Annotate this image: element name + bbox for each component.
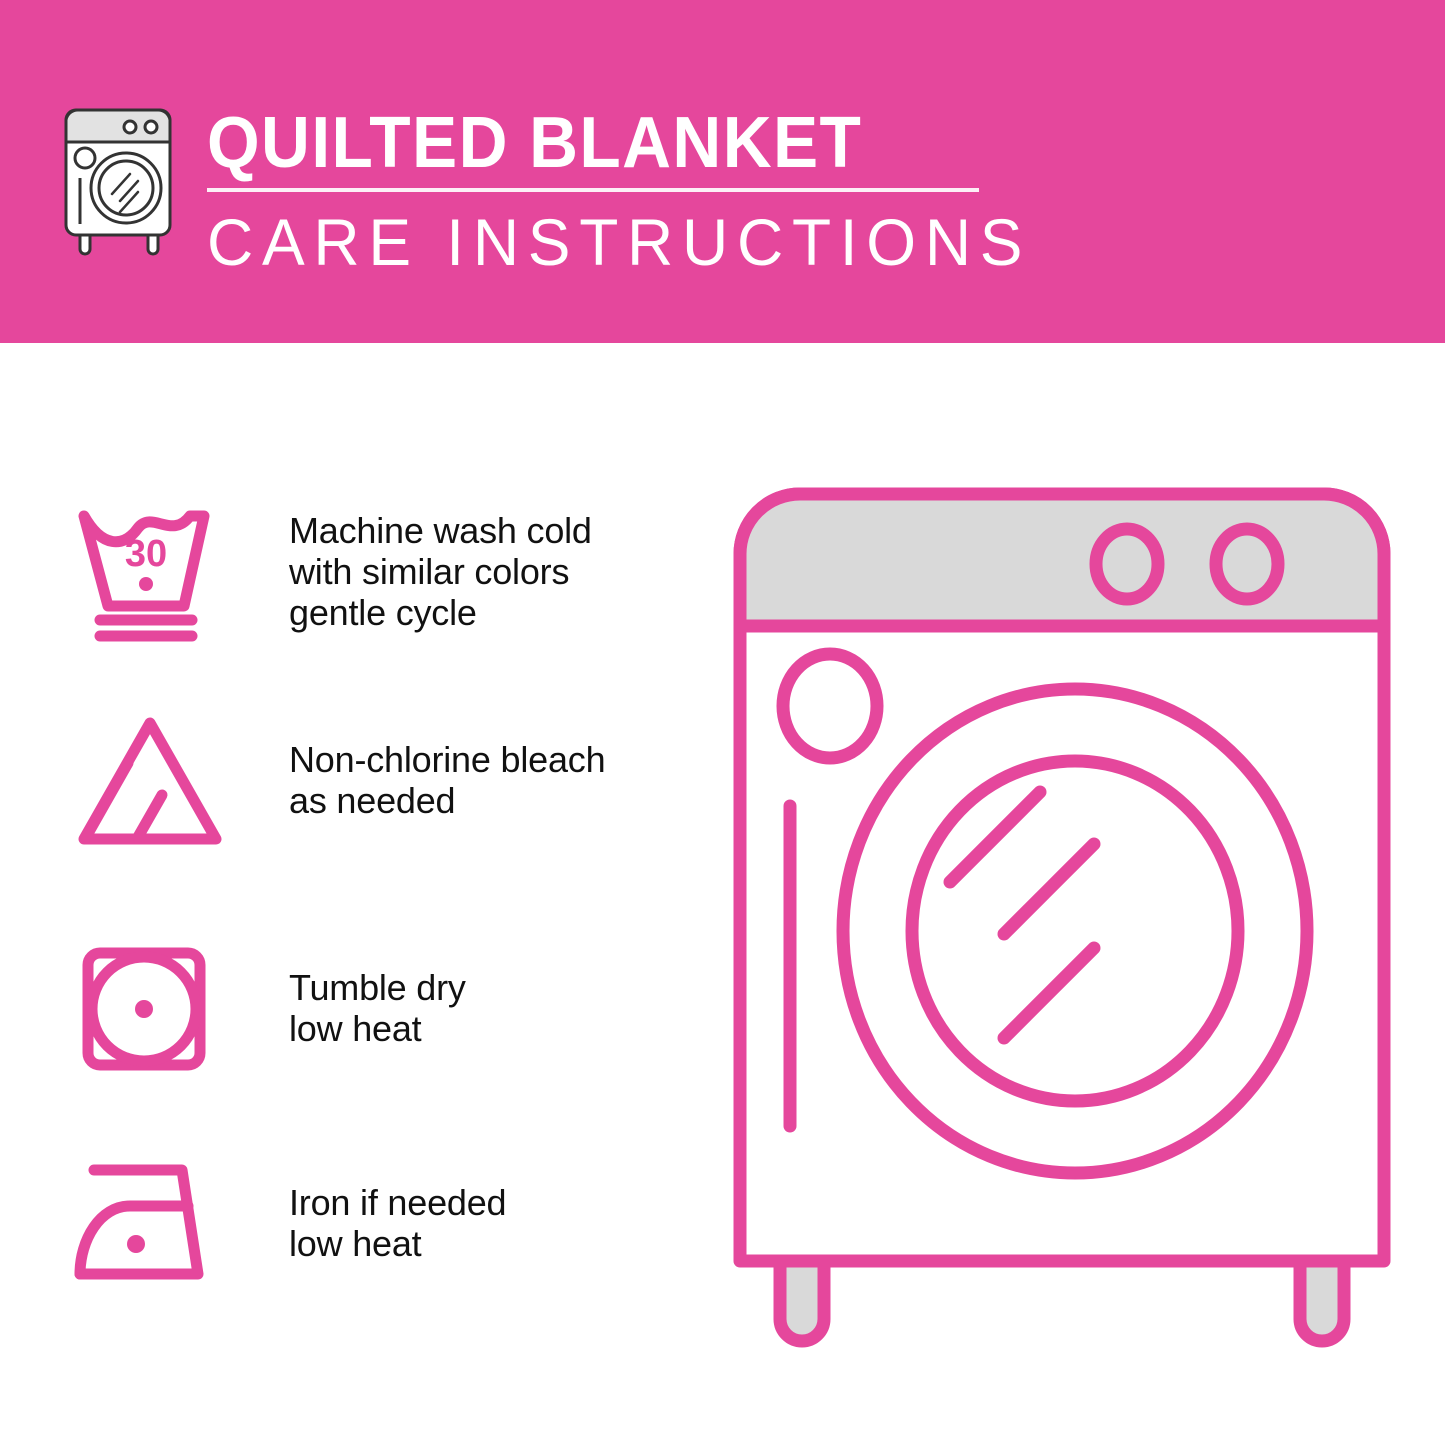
care-text-line: gentle cycle — [289, 592, 689, 633]
page-title: QUILTED BLANKET — [207, 104, 950, 182]
care-text-line: Machine wash cold — [289, 510, 689, 551]
care-item-machine-wash: 30 Machine wash cold with similar colors… — [0, 498, 700, 673]
care-text-line: low heat — [289, 1008, 689, 1049]
washing-machine-icon — [58, 100, 188, 260]
care-item-iron: Iron if needed low heat — [0, 1148, 700, 1323]
care-item-label: Non-chlorine bleach as needed — [289, 739, 689, 821]
care-text-line: Tumble dry — [289, 967, 689, 1008]
large-washing-machine-illustration — [722, 476, 1402, 1366]
care-text-line: low heat — [289, 1223, 689, 1264]
care-instructions-page: QUILTED BLANKET CARE INSTRUCTIONS 30 — [0, 0, 1445, 1445]
wash-tub-30-icon: 30 — [72, 498, 232, 648]
page-subtitle: CARE INSTRUCTIONS — [207, 206, 973, 278]
tumble-dry-icon — [72, 935, 232, 1085]
care-item-label: Tumble dry low heat — [289, 967, 689, 1049]
page-header: QUILTED BLANKET CARE INSTRUCTIONS — [0, 0, 1445, 343]
care-item-label: Iron if needed low heat — [289, 1182, 689, 1264]
care-item-label: Machine wash cold with similar colors ge… — [289, 510, 689, 633]
bleach-triangle-icon — [72, 711, 232, 861]
care-item-tumble-dry: Tumble dry low heat — [0, 935, 700, 1110]
care-text-line: with similar colors — [289, 551, 689, 592]
care-item-bleach: Non-chlorine bleach as needed — [0, 711, 700, 886]
title-divider — [207, 188, 979, 192]
care-text-line: Non-chlorine bleach — [289, 739, 689, 780]
wash-temperature-label: 30 — [125, 533, 167, 575]
header-text-block: QUILTED BLANKET CARE INSTRUCTIONS — [207, 104, 997, 278]
care-text-line: Iron if needed — [289, 1182, 689, 1223]
care-instructions-list: 30 Machine wash cold with similar colors… — [0, 343, 700, 1445]
iron-icon — [72, 1148, 232, 1298]
care-text-line: as needed — [289, 780, 689, 821]
